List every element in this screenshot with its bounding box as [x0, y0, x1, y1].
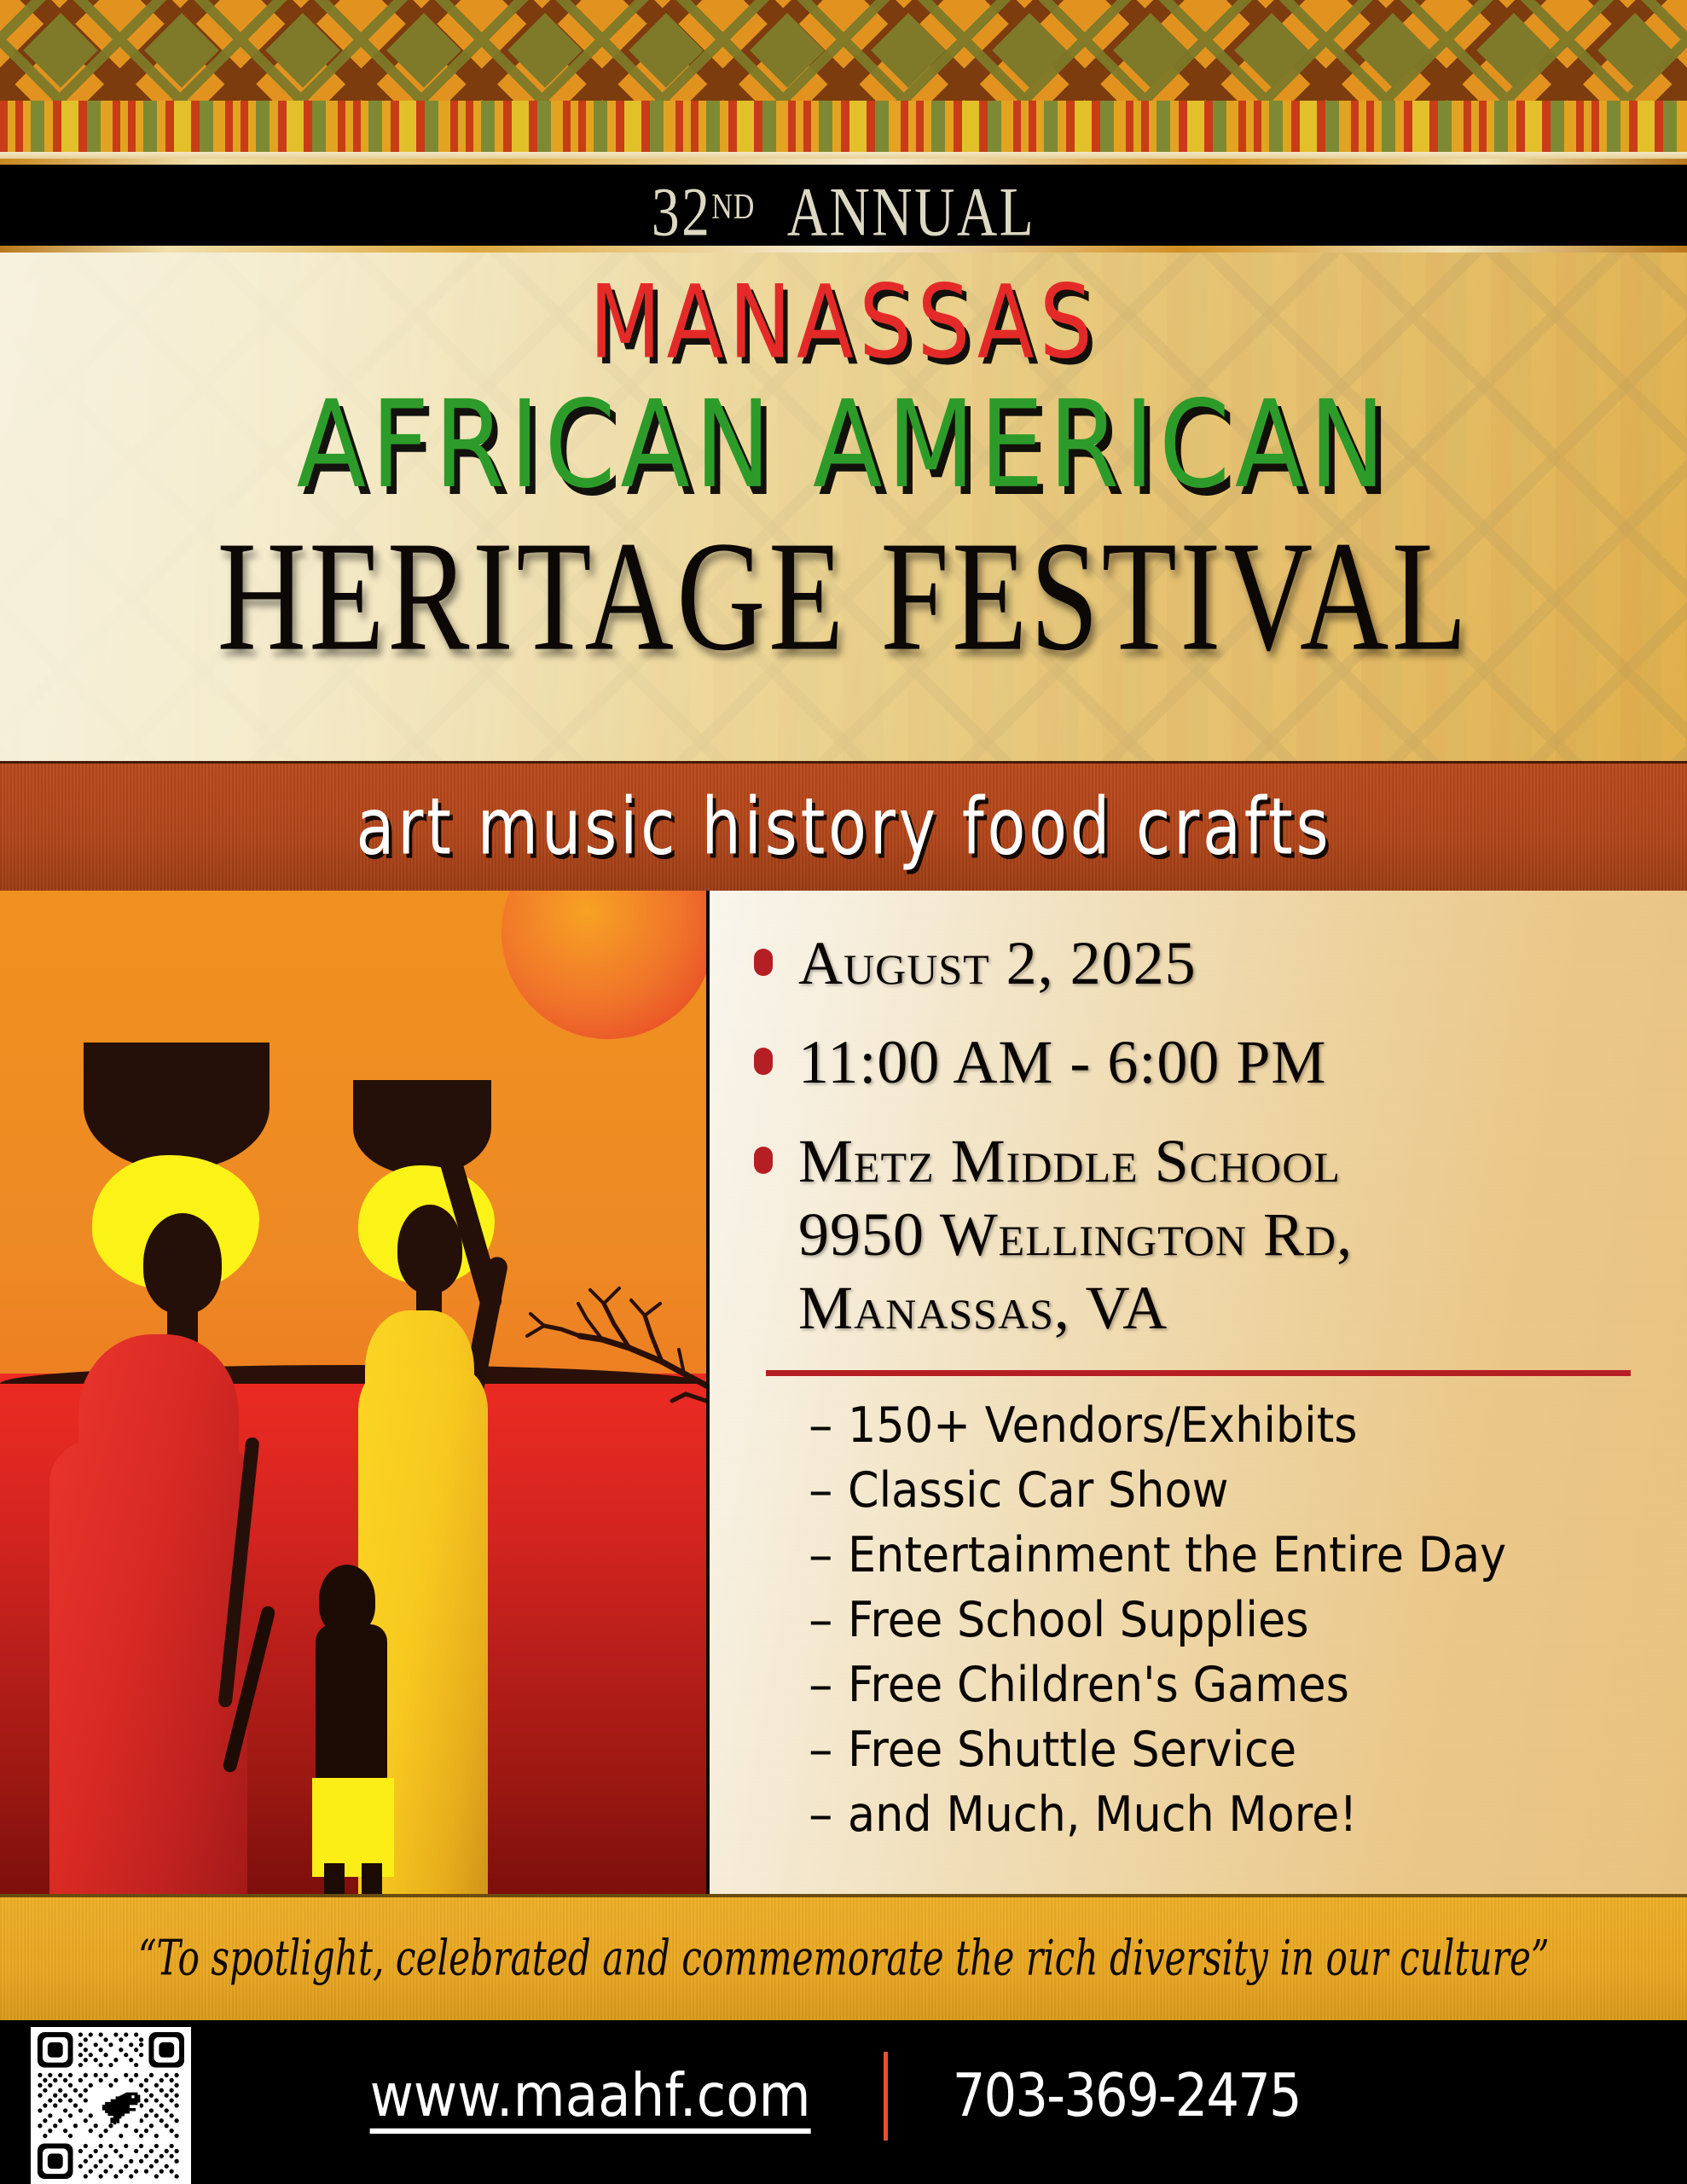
dash-bullet-icon: – — [809, 1588, 848, 1653]
tagline-band: art music history food crafts — [0, 761, 1687, 891]
feature-item: – 150+ Vendors/Exhibits — [809, 1393, 1661, 1458]
kente-diamond — [1453, 0, 1574, 101]
event-details-panel: August 2, 2025 11:00 AM - 6:00 PM Metz M… — [706, 891, 1687, 1894]
feature-item: – Classic Car Show — [809, 1458, 1661, 1523]
acacia-tree-icon — [501, 1258, 706, 1411]
feature-label: Free Children's Games — [848, 1653, 1349, 1717]
detail-date: August 2, 2025 — [754, 926, 1661, 1000]
dash-bullet-icon: – — [809, 1653, 848, 1717]
kente-diamond — [121, 0, 242, 101]
child-leg-right — [362, 1863, 382, 1894]
kente-top-border — [0, 0, 1687, 165]
african-women-illustration — [0, 891, 706, 1894]
feature-item: – Free Shuttle Service — [809, 1717, 1661, 1782]
head-right — [397, 1205, 462, 1293]
feature-label: 150+ Vendors/Exhibits — [848, 1393, 1358, 1458]
bowl-right — [353, 1080, 491, 1176]
detail-date-text: August 2, 2025 — [798, 926, 1197, 1000]
footer-contact-row: www.maahf.com 703-369-2475 — [358, 2049, 1316, 2143]
annual-ordinal: ND — [711, 187, 755, 227]
kente-diamond — [1332, 0, 1453, 101]
festival-poster: 32ND ANNUAL MANASSAS AFRICAN AMERICAN HE… — [0, 0, 1687, 2184]
kente-diamond — [0, 0, 121, 101]
kente-stripe-band — [0, 101, 1687, 154]
detail-time-text: 11:00 AM - 6:00 PM — [798, 1025, 1326, 1099]
child-leg-left — [324, 1863, 345, 1894]
website-link[interactable]: www.maahf.com — [370, 2058, 811, 2135]
dash-bullet-icon: – — [809, 1782, 848, 1847]
dash-bullet-icon: – — [809, 1717, 848, 1782]
feature-item: – Free Children's Games — [809, 1653, 1661, 1717]
title-line-heritage-festival: HERITAGE FESTIVAL — [217, 509, 1470, 684]
kente-diamond — [606, 0, 727, 101]
annual-heading: 32ND ANNUAL — [169, 166, 1518, 253]
detail-location: Metz Middle School 9950 Wellington Rd, M… — [754, 1124, 1661, 1345]
feature-item: – Free School Supplies — [809, 1588, 1661, 1653]
qr-code-svg — [36, 2032, 186, 2179]
annual-number: 32 — [652, 173, 711, 251]
red-divider — [766, 1370, 1631, 1376]
feature-label: Entertainment the Entire Day — [848, 1523, 1506, 1588]
child-torso — [316, 1624, 387, 1786]
venue-street: 9950 Wellington Rd, — [798, 1198, 1353, 1271]
kente-diamond — [969, 0, 1090, 101]
diamond-bullet-icon — [754, 949, 773, 976]
feature-item: – Entertainment the Entire Day — [809, 1523, 1661, 1588]
dinosaur-icon — [96, 2090, 141, 2125]
kente-diamond — [242, 0, 363, 101]
title-line-manassas: MANASSAS — [589, 267, 1098, 378]
main-content-row: August 2, 2025 11:00 AM - 6:00 PM Metz M… — [0, 891, 1687, 1894]
venue-name: Metz Middle School — [798, 1127, 1341, 1195]
kente-diamond — [1574, 0, 1687, 101]
dash-bullet-icon: – — [809, 1523, 848, 1588]
title-text-stack: MANASSAS AFRICAN AMERICAN HERITAGE FESTI… — [0, 253, 1687, 761]
detail-location-block: Metz Middle School 9950 Wellington Rd, M… — [798, 1124, 1353, 1345]
title-line-african-american: AFRICAN AMERICAN — [297, 377, 1390, 514]
feature-label: Free School Supplies — [848, 1588, 1309, 1653]
dash-bullet-icon: – — [809, 1458, 848, 1523]
kente-diamond — [727, 0, 848, 101]
mission-quote-band: “To spotlight, celebrated and commemorat… — [0, 1894, 1687, 2020]
diamond-bullet-icon — [754, 1048, 773, 1075]
head-left — [143, 1213, 222, 1314]
footer-divider — [884, 2052, 888, 2140]
kente-diamond-row — [0, 0, 1687, 101]
phone-number[interactable]: 703-369-2475 — [953, 2058, 1301, 2135]
kente-diamond — [848, 0, 969, 101]
diamond-bullet-icon — [754, 1147, 773, 1174]
feature-label: Classic Car Show — [848, 1458, 1229, 1523]
tagline-text: art music history food crafts — [356, 781, 1331, 874]
feature-list: – 150+ Vendors/Exhibits – Classic Car Sh… — [754, 1393, 1661, 1847]
mission-quote-text: “To spotlight, celebrated and commemorat… — [138, 1926, 1550, 1991]
feature-item: – and Much, Much More! — [809, 1782, 1661, 1847]
detail-time: 11:00 AM - 6:00 PM — [754, 1025, 1661, 1099]
kente-diamond — [363, 0, 484, 101]
event-detail-list: August 2, 2025 11:00 AM - 6:00 PM Metz M… — [754, 926, 1661, 1345]
title-panel: MANASSAS AFRICAN AMERICAN HERITAGE FESTI… — [0, 253, 1687, 761]
feature-label: and Much, Much More! — [848, 1782, 1357, 1847]
kente-diamond — [1211, 0, 1332, 101]
dash-bullet-icon: – — [809, 1393, 848, 1458]
venue-city-state: Manassas, VA — [798, 1271, 1353, 1345]
annual-word: ANNUAL — [787, 173, 1035, 251]
qr-code-icon[interactable] — [31, 2027, 191, 2184]
child-shorts — [312, 1778, 394, 1877]
kente-diamond — [484, 0, 606, 101]
robe-left-red-skirt — [49, 1437, 247, 1894]
feature-label: Free Shuttle Service — [848, 1717, 1296, 1782]
bowl-left — [84, 1043, 270, 1170]
footer-bar: www.maahf.com 703-369-2475 — [0, 2020, 1687, 2184]
kente-diamond — [1090, 0, 1211, 101]
